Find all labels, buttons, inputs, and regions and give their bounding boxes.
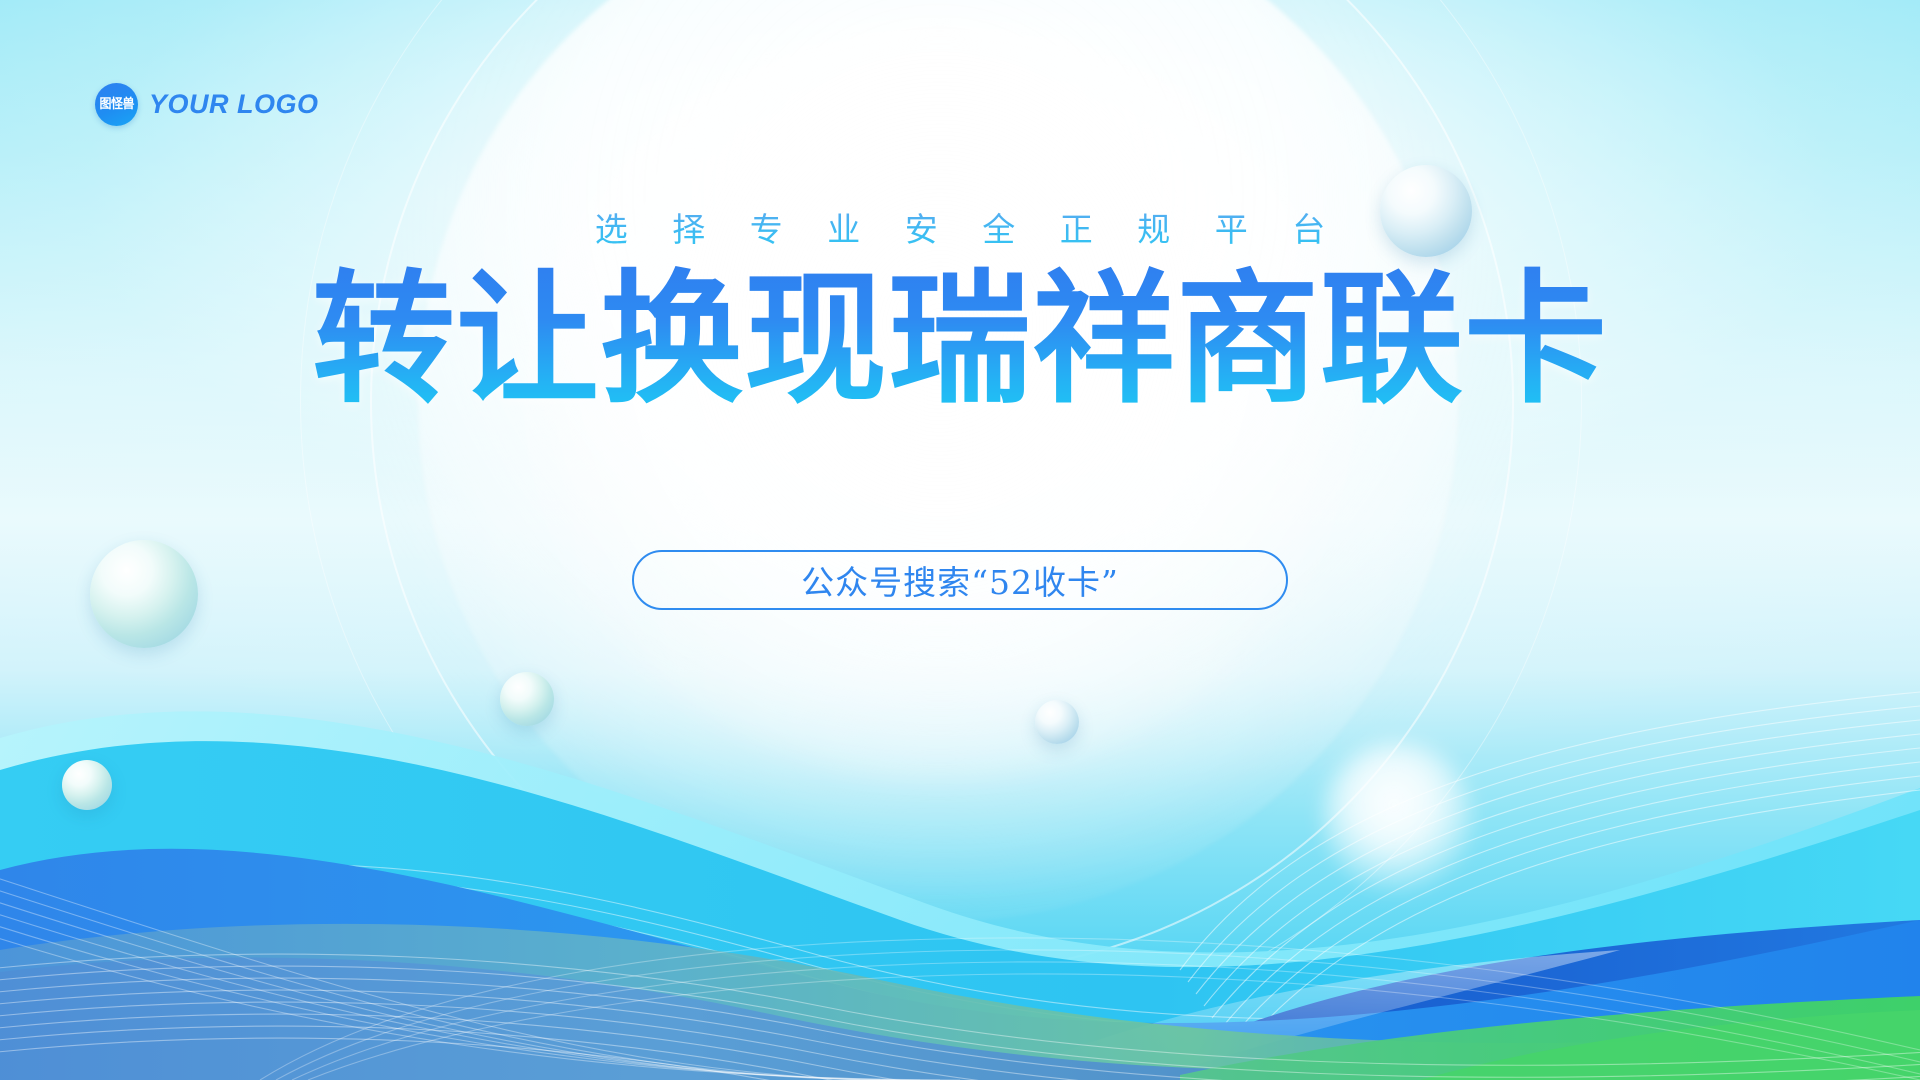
cta-container: 公众号搜索“52收卡” [0,550,1920,610]
logo-wordmark: YOUR LOGO [149,89,319,120]
cta-label: 公众号搜索“52收卡” [801,556,1119,604]
hero-headline: 转让换现瑞祥商联卡 [0,262,1920,416]
logo-mark-text: 图怪兽 [99,98,134,111]
logo-mark-icon: 图怪兽 [95,83,138,126]
decor-wave-band [0,620,1920,1080]
hero-subtitle: 选 择 专 业 安 全 正 规 平 台 [0,203,1920,251]
poster-canvas: 图怪兽 YOUR LOGO 选 择 专 业 安 全 正 规 平 台 转让换现瑞祥… [0,0,1920,1080]
brand-logo[interactable]: 图怪兽 YOUR LOGO [95,83,319,126]
cta-button[interactable]: 公众号搜索“52收卡” [632,550,1288,610]
